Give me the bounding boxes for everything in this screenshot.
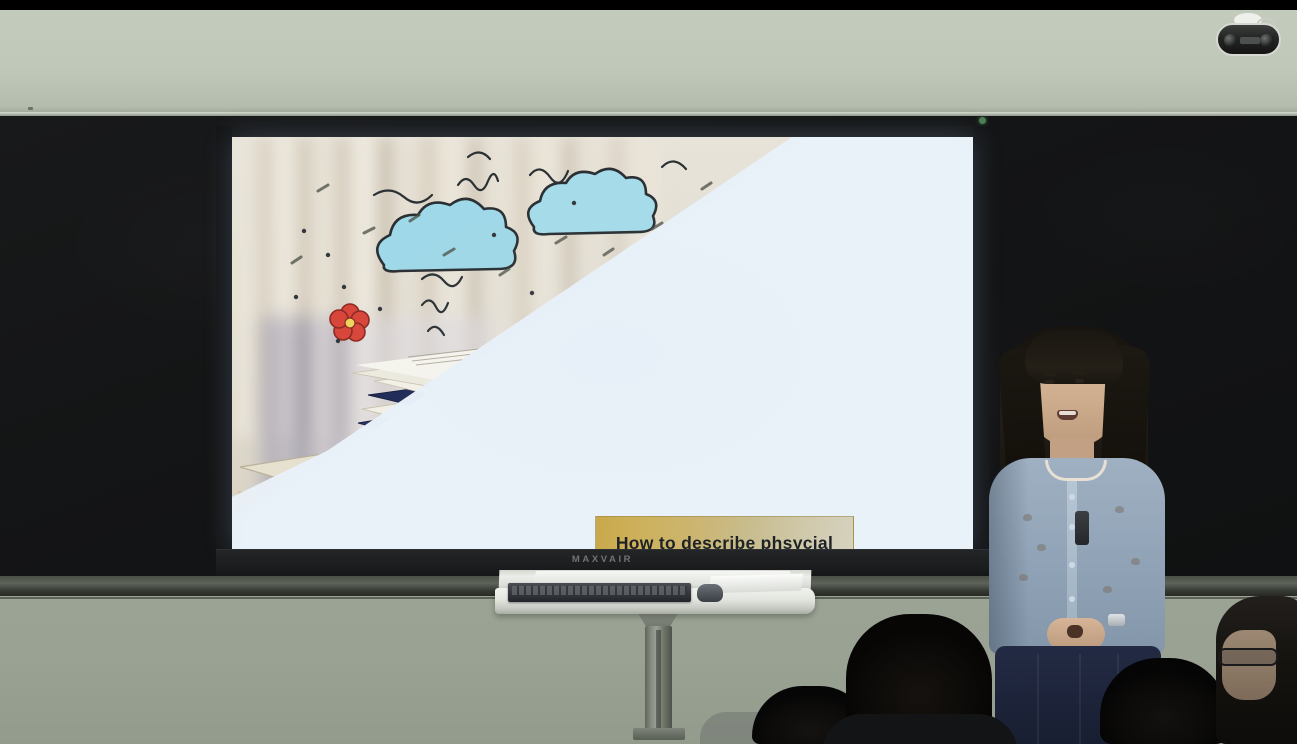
- podium-foot: [633, 728, 685, 740]
- podium-papers-stack[interactable]: [709, 574, 804, 593]
- keyboard[interactable]: [508, 583, 691, 602]
- display-bezel-left: [216, 126, 232, 578]
- cardigan-button: [1069, 562, 1075, 568]
- skirt-fold: [1079, 654, 1081, 744]
- classroom-scene: How to describe phsycial characteristics…: [0, 0, 1297, 744]
- wristwatch: [1108, 614, 1125, 626]
- slide-illustration: [232, 137, 973, 549]
- hair-bangs: [1025, 330, 1123, 384]
- skirt-fold: [1037, 654, 1039, 744]
- eyebrow-right: [1073, 372, 1086, 375]
- clip-on-microphone: [1075, 511, 1089, 545]
- mouth: [1057, 410, 1078, 420]
- mouse[interactable]: [697, 584, 723, 602]
- eye-left: [1045, 380, 1054, 384]
- eyebrow-left: [1043, 373, 1056, 376]
- lecture-capture-camera: [1216, 21, 1281, 57]
- letterbox-bar-top: [0, 0, 1297, 10]
- cardigan-shading: [989, 458, 1029, 654]
- camera-sensor-strip: [1240, 37, 1260, 44]
- upper-wall: [0, 10, 1297, 115]
- wall-speck: [28, 107, 33, 110]
- cardigan-floral-motif: [1103, 586, 1112, 593]
- glasses-icon: [1218, 648, 1278, 666]
- display-brand-label: MAXVAIR: [216, 554, 989, 565]
- cardigan-floral-motif: [1115, 506, 1124, 513]
- slide-title-line-1: How to describe phsycial: [616, 530, 833, 549]
- cardigan-floral-motif: [1037, 544, 1046, 551]
- camera-body: [1216, 23, 1281, 56]
- podium-column: [645, 626, 672, 732]
- cardigan-floral-motif: [1131, 558, 1140, 565]
- presentation-slide[interactable]: How to describe phsycial characteristics…: [232, 137, 973, 549]
- eye-right: [1075, 379, 1084, 383]
- cardigan-floral-motif: [1023, 514, 1032, 521]
- camera-lens-right: [1260, 34, 1273, 47]
- cardigan-button: [1069, 596, 1075, 602]
- student-head-left: [846, 614, 992, 744]
- cardigan-floral-motif: [1019, 574, 1028, 581]
- display-bezel-top: [216, 126, 989, 137]
- camera-lens-left: [1224, 34, 1237, 47]
- slide-title-box: How to describe phsycial characteristics…: [595, 516, 854, 549]
- student-head-right-glasses: [1216, 596, 1297, 744]
- student-shoulders: [822, 714, 1018, 744]
- power-indicator-led: [979, 117, 986, 124]
- cardigan-button: [1069, 494, 1075, 500]
